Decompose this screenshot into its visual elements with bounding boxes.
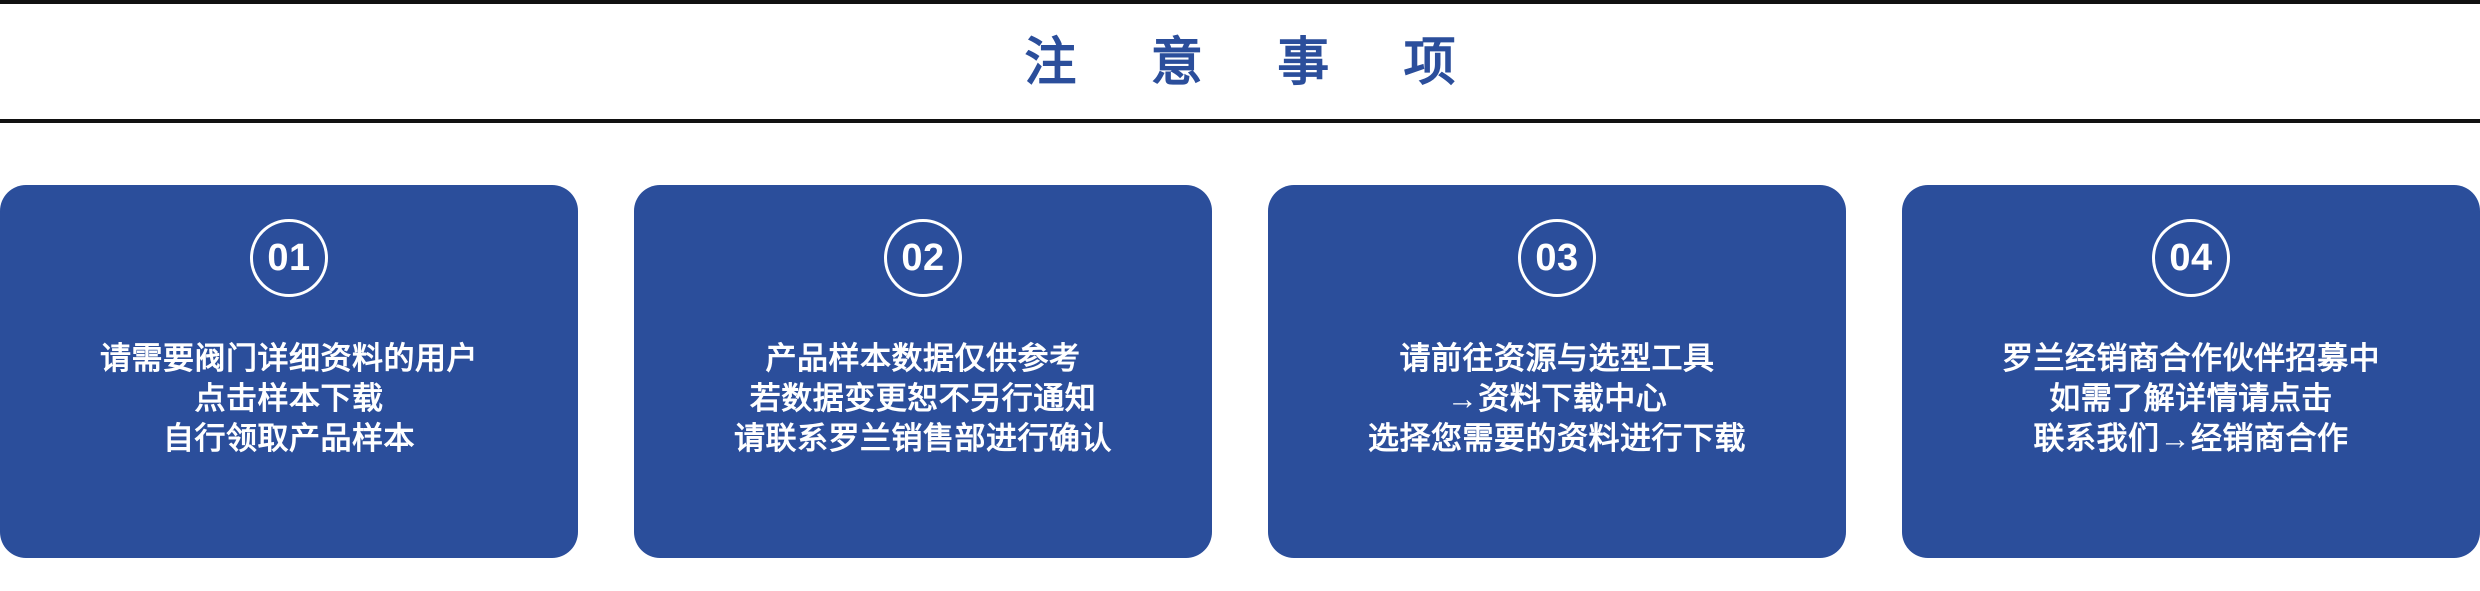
notice-line: 联系我们→经销商合作 xyxy=(2034,419,2349,459)
page-header: 注 意 事 项 xyxy=(0,4,2480,121)
notice-line: 产品样本数据仅供参考 xyxy=(766,339,1081,379)
step-badge-circle-icon: 04 xyxy=(2152,219,2230,297)
notice-card-body: 请需要阀门详细资料的用户 点击样本下载 自行领取产品样本 xyxy=(0,339,578,459)
notice-card-01[interactable]: 01 请需要阀门详细资料的用户 点击样本下载 自行领取产品样本 xyxy=(0,185,578,558)
notice-card-03[interactable]: 03 请前往资源与选型工具 →资料下载中心 选择您需要的资料进行下载 xyxy=(1268,185,1846,558)
notice-line: 请联系罗兰销售部进行确认 xyxy=(734,419,1112,459)
notice-line: 请前往资源与选型工具 xyxy=(1400,339,1715,379)
step-number: 01 xyxy=(267,239,310,277)
header-divider-rule xyxy=(0,119,2480,123)
notice-line: 若数据变更恕不另行通知 xyxy=(750,379,1097,419)
step-number: 03 xyxy=(1535,239,1578,277)
notice-card-body: 罗兰经销商合作伙伴招募中 如需了解详情请点击 联系我们→经销商合作 xyxy=(1902,339,2480,459)
notice-line: 选择您需要的资料进行下载 xyxy=(1368,419,1746,459)
page-title: 注 意 事 项 xyxy=(994,37,1485,89)
notice-line: 如需了解详情请点击 xyxy=(2049,379,2333,419)
notice-line: 请需要阀门详细资料的用户 xyxy=(100,339,478,379)
step-badge-circle-icon: 02 xyxy=(884,219,962,297)
step-badge-circle-icon: 03 xyxy=(1518,219,1596,297)
notice-line: 点击样本下载 xyxy=(195,379,384,419)
notice-line: 罗兰经销商合作伙伴招募中 xyxy=(2002,339,2380,379)
notice-card-body: 产品样本数据仅供参考 若数据变更恕不另行通知 请联系罗兰销售部进行确认 xyxy=(634,339,1212,459)
step-number: 02 xyxy=(901,239,944,277)
notice-card-04[interactable]: 04 罗兰经销商合作伙伴招募中 如需了解详情请点击 联系我们→经销商合作 xyxy=(1902,185,2480,558)
notice-line: →资料下载中心 xyxy=(1447,379,1668,419)
notice-card-02[interactable]: 02 产品样本数据仅供参考 若数据变更恕不另行通知 请联系罗兰销售部进行确认 xyxy=(634,185,1212,558)
notice-line: 自行领取产品样本 xyxy=(163,419,415,459)
notice-card-list: 01 请需要阀门详细资料的用户 点击样本下载 自行领取产品样本 02 产品样本数… xyxy=(0,185,2480,558)
notice-card-body: 请前往资源与选型工具 →资料下载中心 选择您需要的资料进行下载 xyxy=(1268,339,1846,459)
step-number: 04 xyxy=(2169,239,2212,277)
step-badge-circle-icon: 01 xyxy=(250,219,328,297)
notice-page: 注 意 事 项 01 请需要阀门详细资料的用户 点击样本下载 自行领取产品样本 … xyxy=(0,0,2480,591)
